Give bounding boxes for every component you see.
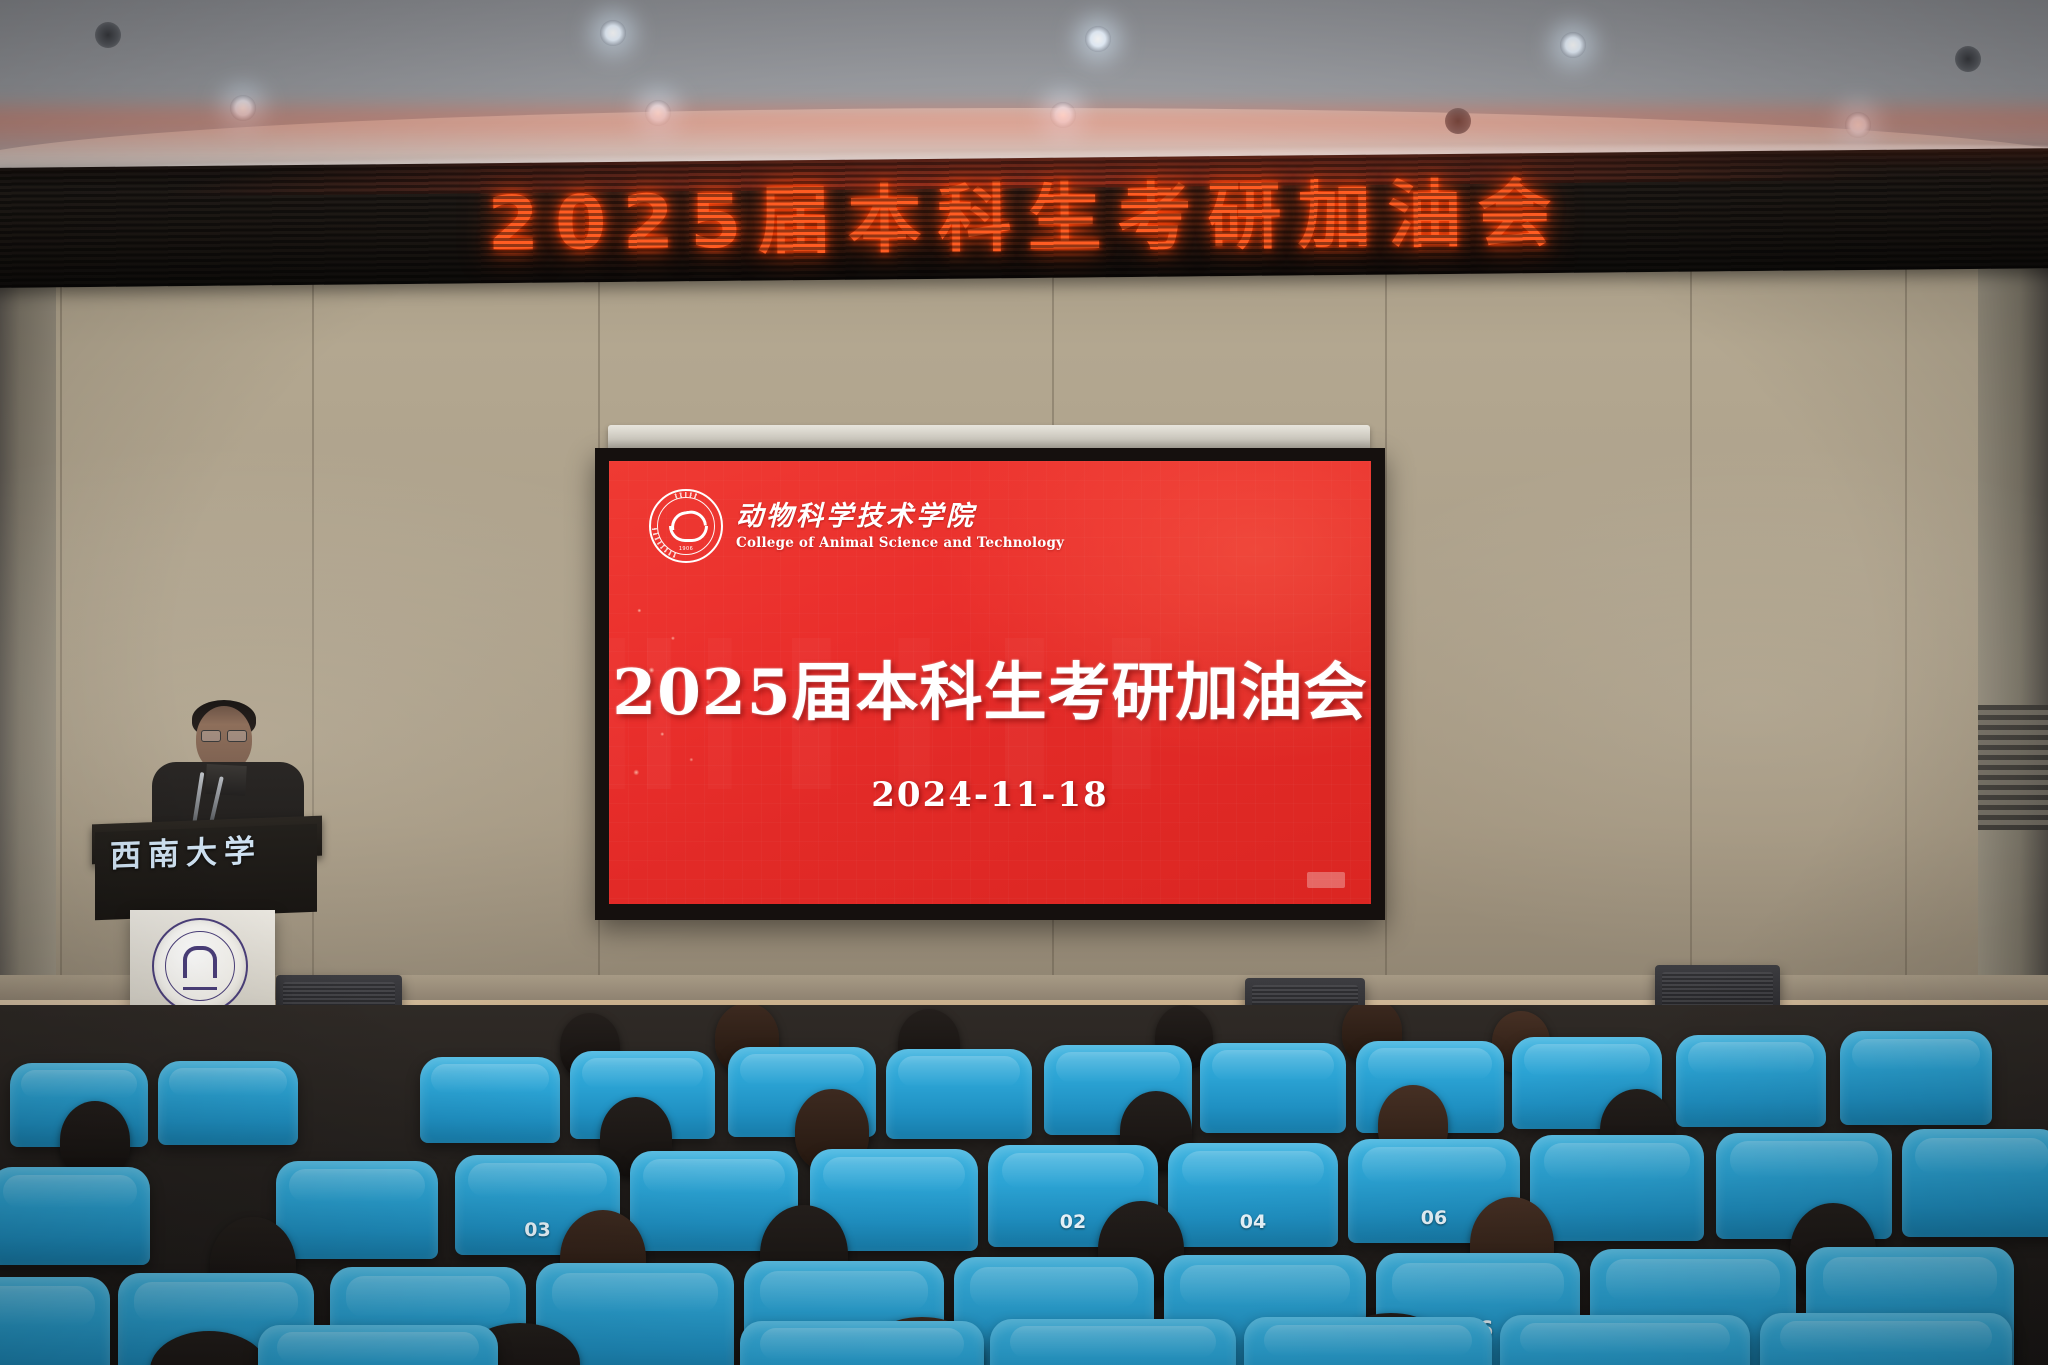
projector-screen-frame: 1906 动物科学技术学院 College of Animal Science … [595,448,1385,920]
college-name-en: College of Animal Science and Technology [736,536,1064,551]
audience-seat[interactable] [276,1161,438,1259]
ceiling-downlight-4 [230,95,256,121]
speaker-collar [205,764,247,796]
audience-seat[interactable] [0,1277,110,1365]
audience-seat[interactable] [1902,1129,2048,1237]
audience-seat[interactable]: 04 [1244,1317,1492,1365]
ceiling-downlight-2 [1085,26,1111,52]
college-logo-texts: 动物科学技术学院 College of Animal Science and T… [736,502,1064,551]
wall-right-column [1978,255,2048,1015]
auditorium-scene: 2025届本科生考研加油会 1906 动物科学技术学院 College of A… [0,0,2048,1365]
led-banner: 2025届本科生考研加油会 [0,148,2048,288]
wall-panel-seam-6 [1690,255,1692,1015]
college-name-cn: 动物科学技术学院 [736,502,1064,532]
ceiling-downlight-off-1 [95,22,121,48]
ceiling-downlight-7 [1845,112,1871,138]
college-crest-icon: 1906 [649,489,723,563]
ceiling-downlight-off-2 [1955,46,1981,72]
speaker-glasses [201,730,247,740]
university-crest-icon [152,918,248,1014]
ceiling-downlight-1 [600,20,626,46]
audience-area: 08 03 02 04 06 [0,1005,2048,1365]
audience-seat[interactable] [1760,1313,2012,1365]
audience-seat[interactable] [420,1057,560,1143]
wall-panel-seam-7 [1905,255,1907,1015]
audience-seat[interactable] [886,1049,1032,1139]
audience-seat[interactable] [1676,1035,1826,1127]
seat-number: 04 [1168,1211,1338,1233]
audience-seat[interactable] [1840,1031,1992,1125]
ceiling-downlight-3 [1560,32,1586,58]
ceiling-downlight-6 [1050,102,1076,128]
audience-seat[interactable] [1200,1043,1346,1133]
wall-left-column [0,255,56,1015]
projector-screen: 1906 动物科学技术学院 College of Animal Science … [609,461,1371,904]
audience-seat[interactable]: 02 [990,1319,1236,1365]
audience-seat[interactable]: 04 [1168,1143,1338,1247]
audience-seat[interactable]: 05 [258,1325,498,1365]
crest-year-label: 1906 [679,546,693,552]
slide-title: 2025届本科生考研加油会 [609,657,1371,727]
audience-seat[interactable] [1500,1315,1750,1365]
screen-college-logo: 1906 动物科学技术学院 College of Animal Science … [649,489,1064,563]
ceiling-downlight-5 [645,100,671,126]
screen-watermark [1307,872,1345,888]
audience-seat[interactable] [0,1167,150,1265]
audience-seat[interactable]: 01 [740,1321,984,1365]
crest-emblem-mark [668,509,704,543]
ceiling-downlight-off-3 [1445,108,1471,134]
audience-seat[interactable] [158,1061,298,1145]
audience-seat[interactable] [1530,1135,1704,1241]
wall-panel-seam-5 [1385,255,1387,1015]
wall-air-vent [1978,705,2048,830]
slide-date: 2024-11-18 [609,776,1371,814]
wall-panel-seam-1 [60,255,62,1015]
university-crest-inner [165,931,235,1001]
